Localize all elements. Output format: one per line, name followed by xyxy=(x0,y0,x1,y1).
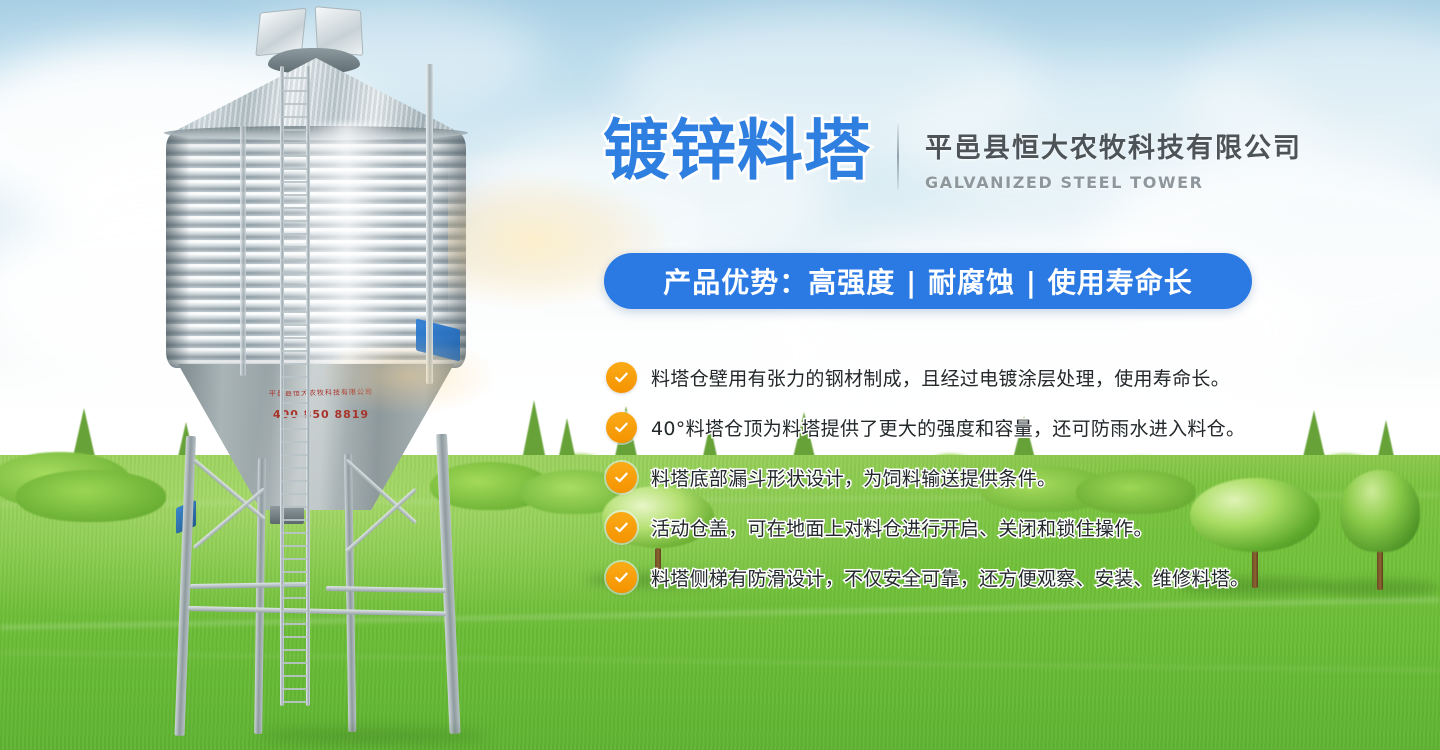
feature-text: 料塔侧梯有防滑设计，不仅安全可靠，还方便观察、安装、维修料塔。 xyxy=(651,564,1249,591)
company-name-cn: 平邑县恒大农牧科技有限公司 xyxy=(925,126,1302,165)
promo-banner-stage: 平邑县恒大农牧科技有限公司 400 850 8819 xyxy=(0,0,1440,750)
feature-text: 活动仓盖，可在地面上对料仓进行开启、关闭和锁住操作。 xyxy=(651,514,1153,541)
advantages-banner: 产品优势：高强度 | 耐腐蚀 | 使用寿命长 xyxy=(604,253,1252,309)
feature-text: 40°料塔仓顶为料塔提供了更大的强度和容量，还可防雨水进入料仓。 xyxy=(651,414,1245,441)
promo-copy: 镀锌料塔 平邑县恒大农牧科技有限公司 GALVANIZED STEEL TOWE… xyxy=(0,0,1440,750)
headline-row: 镀锌料塔 平邑县恒大农牧科技有限公司 GALVANIZED STEEL TOWE… xyxy=(603,118,1302,192)
headline-divider xyxy=(897,124,899,190)
feature-list: 料塔仓壁用有张力的钢材制成，且经过电镀涂层处理，使用寿命长。 40°料塔仓顶为料… xyxy=(606,352,1306,602)
check-circle-icon xyxy=(606,462,637,493)
check-circle-icon xyxy=(606,362,637,393)
list-item: 40°料塔仓顶为料塔提供了更大的强度和容量，还可防雨水进入料仓。 xyxy=(606,402,1306,452)
list-item: 活动仓盖，可在地面上对料仓进行开启、关闭和锁住操作。 xyxy=(606,502,1306,552)
page-title: 镀锌料塔 xyxy=(603,118,871,184)
advantages-banner-text: 产品优势：高强度 | 耐腐蚀 | 使用寿命长 xyxy=(663,261,1192,301)
brand-block: 平邑县恒大农牧科技有限公司 GALVANIZED STEEL TOWER xyxy=(925,126,1302,192)
check-circle-icon xyxy=(606,412,637,443)
list-item: 料塔侧梯有防滑设计，不仅安全可靠，还方便观察、安装、维修料塔。 xyxy=(606,552,1306,602)
feature-text: 料塔仓壁用有张力的钢材制成，且经过电镀涂层处理，使用寿命长。 xyxy=(651,364,1230,391)
check-circle-icon xyxy=(606,562,637,593)
check-circle-icon xyxy=(606,512,637,543)
feature-text: 料塔底部漏斗形状设计，为饲料输送提供条件。 xyxy=(651,464,1056,491)
list-item: 料塔仓壁用有张力的钢材制成，且经过电镀涂层处理，使用寿命长。 xyxy=(606,352,1306,402)
company-subtitle-en: GALVANIZED STEEL TOWER xyxy=(925,173,1302,192)
list-item: 料塔底部漏斗形状设计，为饲料输送提供条件。 xyxy=(606,452,1306,502)
